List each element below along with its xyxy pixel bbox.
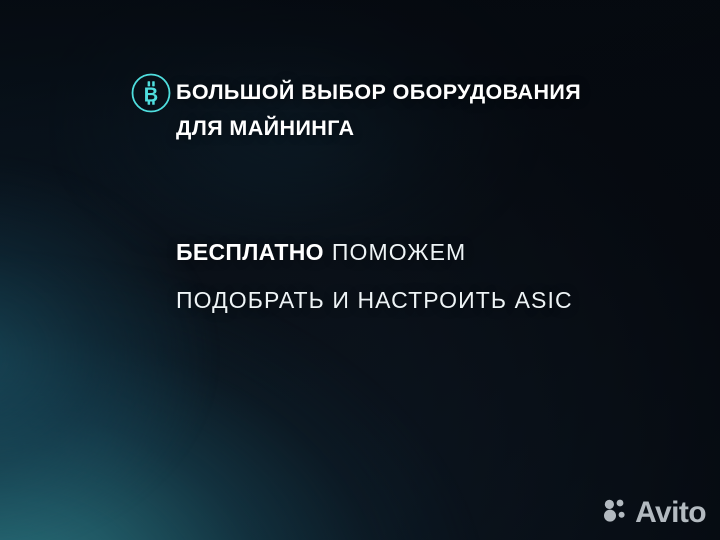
offer-line-1: БЕСПЛАТНОПОМОЖЕМ [176,230,573,278]
offer-line-1-rest: ПОМОЖЕМ [332,239,466,265]
headline-block: B БОЛЬШОЙ ВЫБОР ОБОРУДОВАНИЯ ДЛЯ МАЙНИНГ… [130,60,581,161]
avito-dots-icon [603,497,629,528]
headline-line-2: ДЛЯ МАЙНИНГА [176,110,581,146]
avito-watermark: Avito [603,497,706,528]
bitcoin-icon: B [130,72,172,114]
avito-wordmark: Avito [635,498,706,528]
offer-line-2: ПОДОБРАТЬ И НАСТРОИТЬ ASIC [176,278,573,323]
page-title: БОЛЬШОЙ ВЫБОР ОБОРУДОВАНИЯ ДЛЯ МАЙНИНГА [176,74,581,146]
offer-highlight: БЕСПЛАТНО [176,239,324,265]
svg-text:B: B [144,85,158,107]
headline-line-1: БОЛЬШОЙ ВЫБОР ОБОРУДОВАНИЯ [176,74,581,110]
offer-message: БЕСПЛАТНОПОМОЖЕМ ПОДОБРАТЬ И НАСТРОИТЬ A… [176,230,573,323]
promo-banner: B БОЛЬШОЙ ВЫБОР ОБОРУДОВАНИЯ ДЛЯ МАЙНИНГ… [0,0,720,540]
